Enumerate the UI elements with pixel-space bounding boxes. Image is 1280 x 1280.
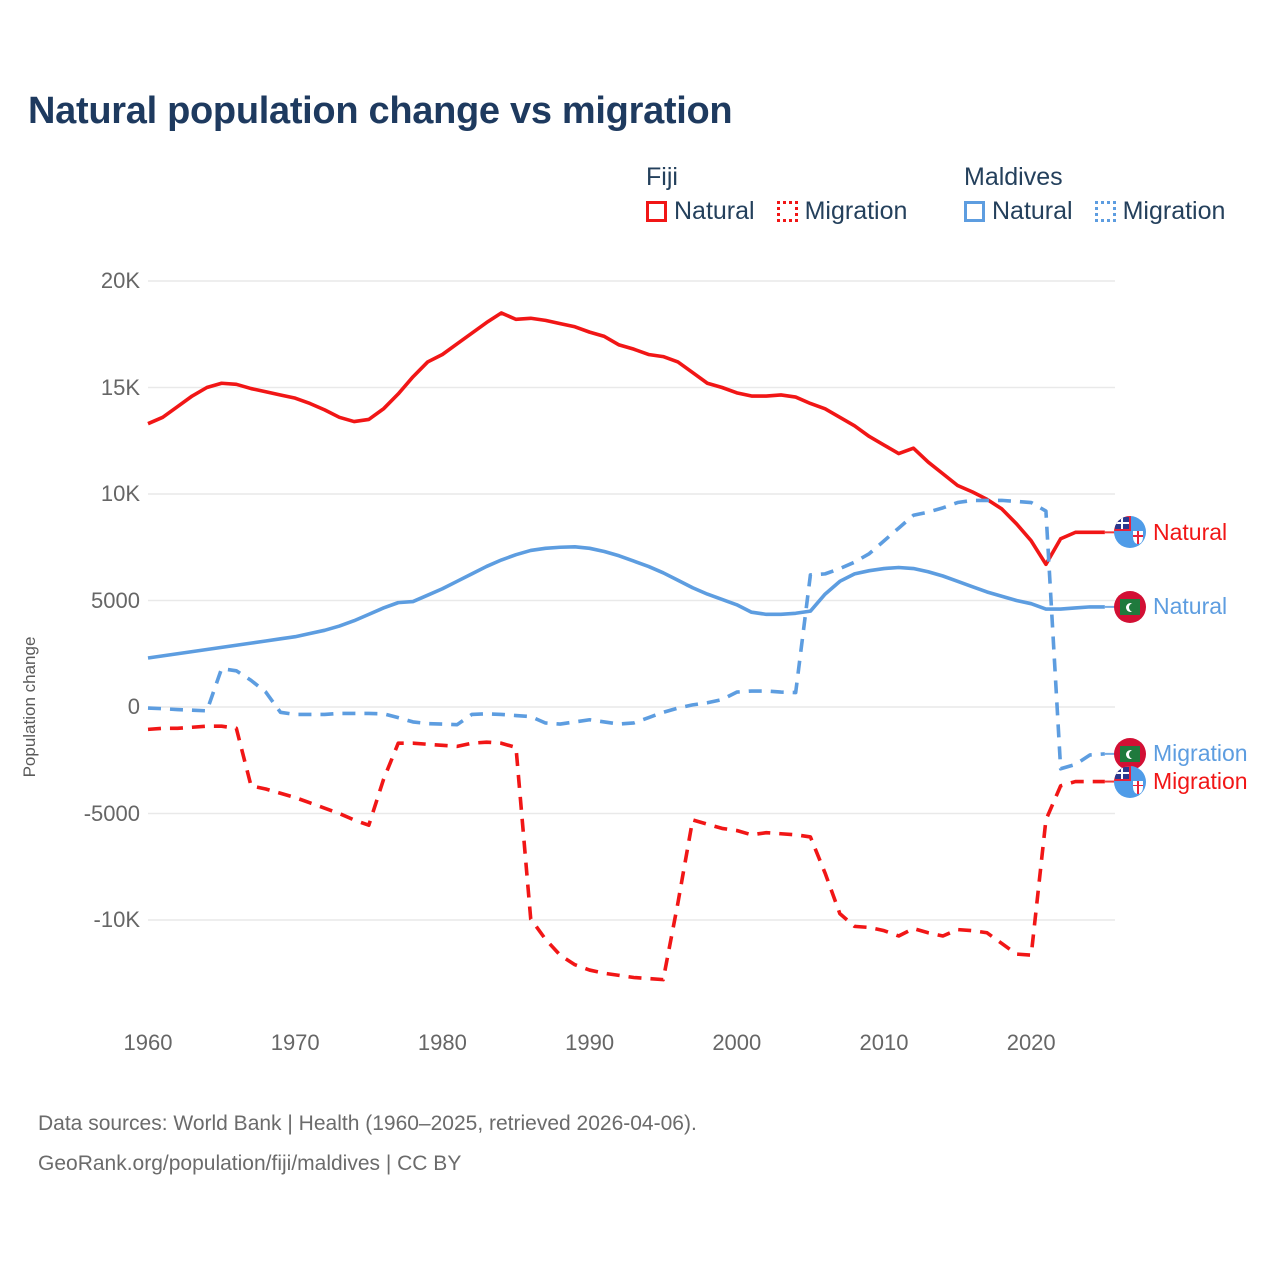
x-tick-label: 2020 xyxy=(1007,1030,1056,1056)
x-tick-label: 2000 xyxy=(712,1030,761,1056)
maldives-flag-icon xyxy=(1114,591,1146,623)
series-line-fiji-migration xyxy=(148,726,1105,979)
y-tick-label: 10K xyxy=(8,481,140,507)
x-tick-label: 1960 xyxy=(124,1030,173,1056)
y-tick-label: 0 xyxy=(8,694,140,720)
series-line-maldives-migration xyxy=(148,500,1105,768)
gridlines xyxy=(148,281,1115,920)
y-tick-label: 20K xyxy=(8,268,140,294)
end-label-text: Migration xyxy=(1153,740,1248,767)
y-tick-label: -10K xyxy=(8,907,140,933)
y-tick-label: 5000 xyxy=(8,588,140,614)
end-label-fiji-migration[interactable]: Migration xyxy=(1114,766,1248,798)
x-tick-label: 1990 xyxy=(565,1030,614,1056)
end-label-text: Migration xyxy=(1153,768,1248,795)
x-tick-label: 1980 xyxy=(418,1030,467,1056)
end-label-text: Natural xyxy=(1153,519,1227,546)
chart-root: Natural population change vs migration F… xyxy=(0,0,1280,1280)
end-label-fiji-natural[interactable]: Natural xyxy=(1114,516,1227,548)
x-tick-label: 1970 xyxy=(271,1030,320,1056)
end-label-text: Natural xyxy=(1153,593,1227,620)
y-tick-label: 15K xyxy=(8,375,140,401)
series-line-fiji-natural xyxy=(148,313,1105,564)
end-label-maldives-natural[interactable]: Natural xyxy=(1114,591,1227,623)
series-line-maldives-natural xyxy=(148,547,1105,658)
x-tick-label: 2010 xyxy=(860,1030,909,1056)
fiji-flag-icon xyxy=(1114,516,1146,548)
fiji-flag-icon xyxy=(1114,766,1146,798)
footer-data-sources: Data sources: World Bank | Health (1960–… xyxy=(38,1112,697,1136)
plot-area xyxy=(0,0,1280,1280)
y-tick-label: -5000 xyxy=(8,801,140,827)
footer-attribution: GeoRank.org/population/fiji/maldives | C… xyxy=(38,1152,461,1176)
